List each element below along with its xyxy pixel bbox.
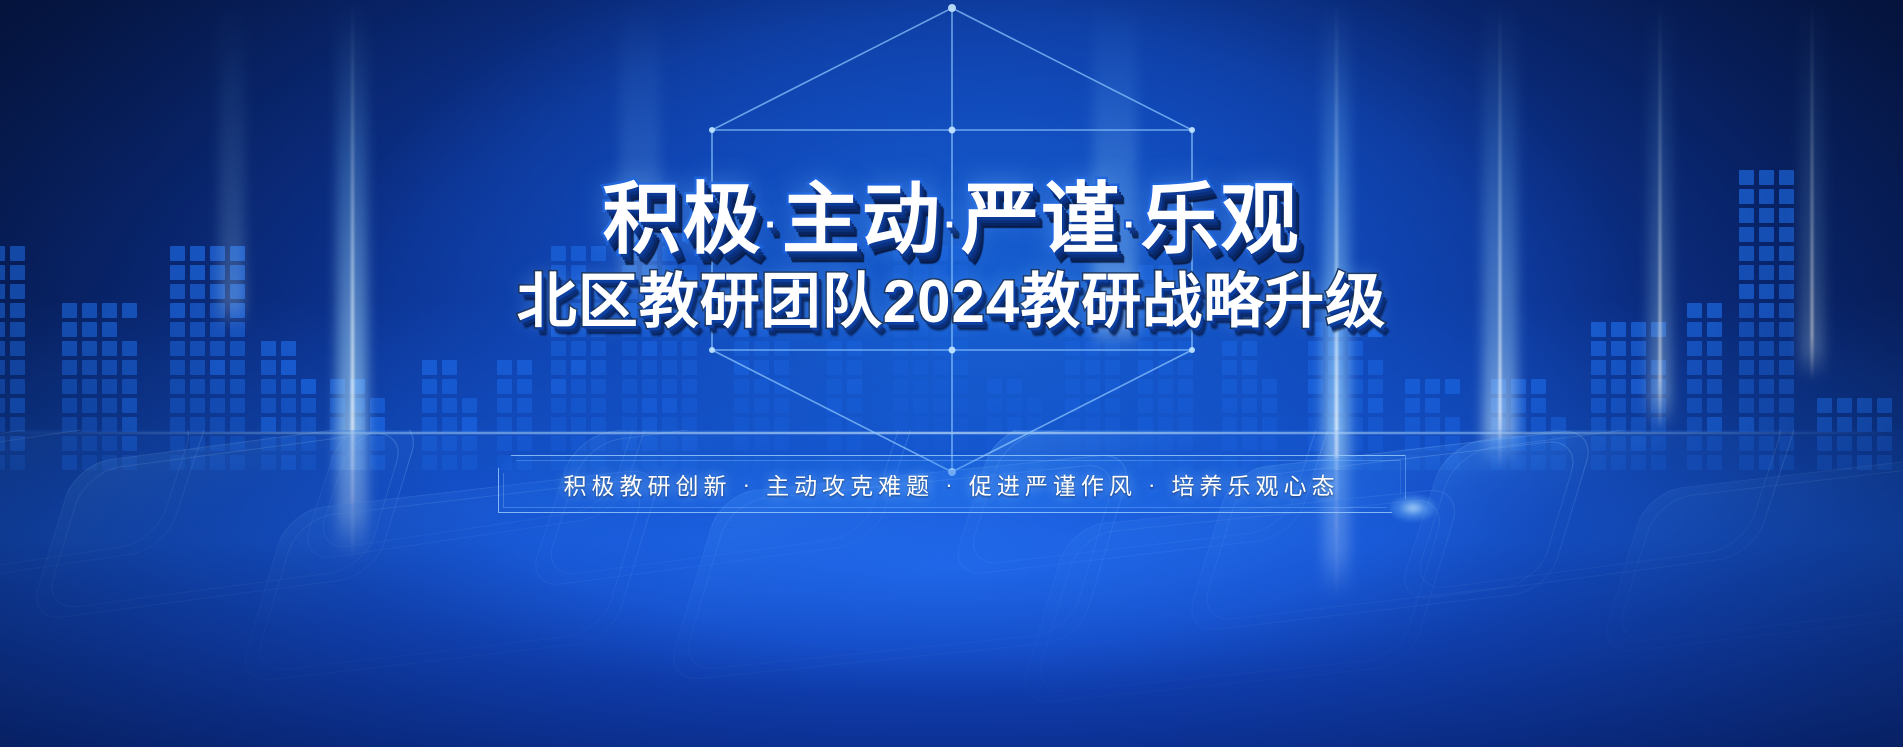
banner-root: 积极·主动·严谨·乐观 北区教研团队2024教研战略升级 积极教研创新 · 主动… [0,0,1903,747]
tagline-text: 积极教研创新 · 主动攻克难题 · 促进严谨作风 · 培养乐观心态 [498,455,1406,513]
main-title-word-1: 积极 [602,175,762,263]
tagline-item-3: 促进严谨作风 [965,467,1141,501]
main-title-word-3: 严谨 [961,175,1121,263]
main-title-separator-2: · [942,203,961,247]
tagline-item-4: 培养乐观心态 [1168,467,1344,501]
main-title-separator-3: · [1121,203,1140,247]
sub-title: 北区教研团队2024教研战略升级 [517,272,1386,332]
tagline-bar: 积极教研创新 · 主动攻克难题 · 促进严谨作风 · 培养乐观心态 [498,455,1406,513]
title-block: 积极·主动·严谨·乐观 北区教研团队2024教研战略升级 [0,180,1903,332]
main-title-word-2: 主动 [782,175,942,263]
main-title: 积极·主动·严谨·乐观 [602,180,1300,258]
tagline-separator-1: · [735,471,762,498]
main-title-word-4: 乐观 [1141,175,1301,263]
tagline-item-1: 积极教研创新 [559,467,735,501]
main-title-separator-1: · [762,203,781,247]
tagline-separator-3: · [1141,471,1168,498]
tagline-separator-2: · [938,471,965,498]
tagline-item-2: 主动攻克难题 [762,467,938,501]
